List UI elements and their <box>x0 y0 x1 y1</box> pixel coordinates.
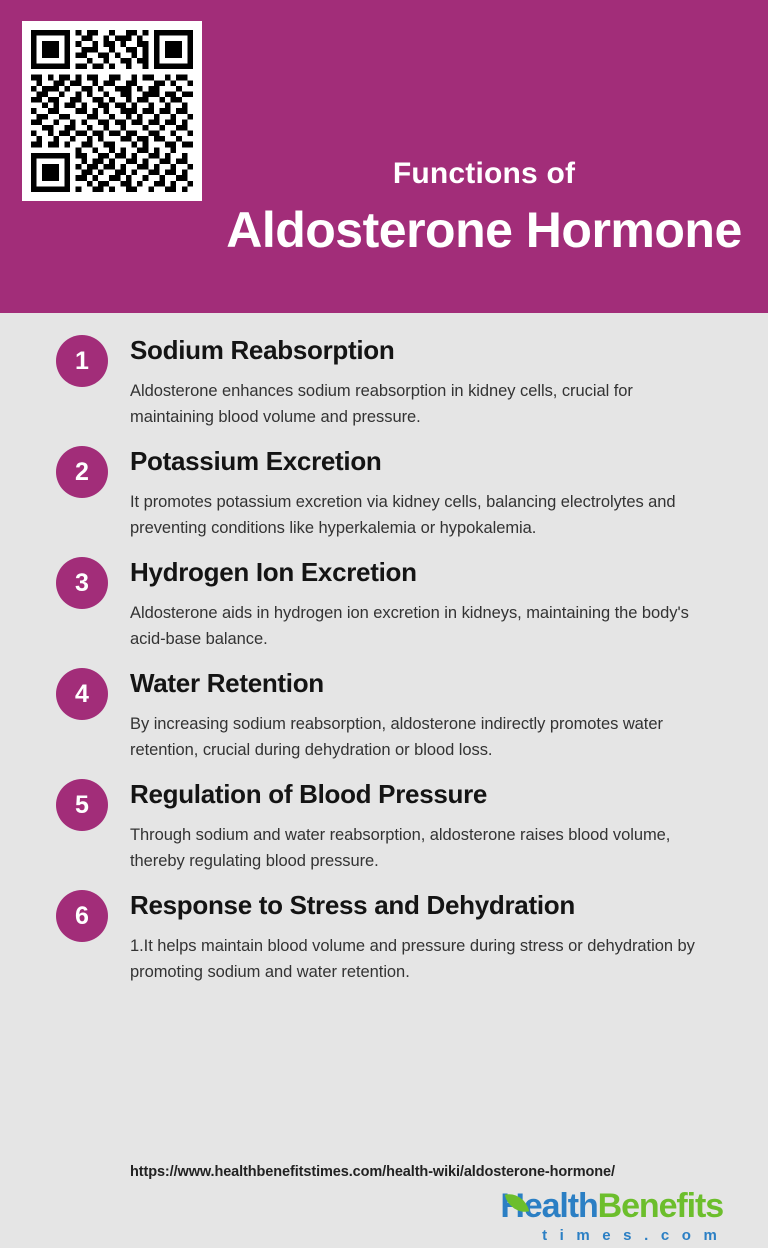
item-description: Through sodium and water reabsorption, a… <box>130 822 718 874</box>
logo-benefits-text: Benefits <box>598 1187 723 1225</box>
infographic-poster: Functions of Aldosterone Hormone 1 Sodiu… <box>0 0 768 1248</box>
logo-wordmark: HealthBenefits <box>500 1189 723 1223</box>
item-description: 1.It helps maintain blood volume and pre… <box>130 933 718 985</box>
qr-code-icon[interactable] <box>22 21 202 201</box>
site-logo[interactable]: HealthBenefits t i m e s . c o m <box>500 1189 723 1243</box>
list-item: 6 Response to Stress and Dehydration 1.I… <box>30 888 738 985</box>
item-number-badge: 5 <box>56 779 108 831</box>
source-url-link[interactable]: https://www.healthbenefitstimes.com/heal… <box>130 1162 615 1182</box>
header-kicker: Functions of <box>200 155 768 193</box>
poster-header: Functions of Aldosterone Hormone <box>0 0 768 313</box>
list-item: 4 Water Retention By increasing sodium r… <box>30 666 738 763</box>
item-title: Potassium Excretion <box>130 444 738 478</box>
item-number-badge: 6 <box>56 890 108 942</box>
list-item: 2 Potassium Excretion It promotes potass… <box>30 444 738 541</box>
item-title: Hydrogen Ion Excretion <box>130 555 738 589</box>
list-item: 5 Regulation of Blood Pressure Through s… <box>30 777 738 874</box>
functions-list: 1 Sodium Reabsorption Aldosterone enhanc… <box>0 313 768 985</box>
poster-footer: https://www.healthbenefitstimes.com/heal… <box>0 1156 768 1248</box>
item-number-badge: 3 <box>56 557 108 609</box>
logo-tagline: t i m e s . c o m <box>500 1228 723 1243</box>
item-title: Water Retention <box>130 666 738 700</box>
item-description: Aldosterone aids in hydrogen ion excreti… <box>130 600 718 652</box>
item-description: It promotes potassium excretion via kidn… <box>130 489 718 541</box>
item-number-badge: 4 <box>56 668 108 720</box>
item-number-badge: 2 <box>56 446 108 498</box>
list-item: 1 Sodium Reabsorption Aldosterone enhanc… <box>30 333 738 430</box>
header-title-block: Functions of Aldosterone Hormone <box>200 155 768 261</box>
item-description: By increasing sodium reabsorption, aldos… <box>130 711 718 763</box>
qr-code-graphic <box>31 30 193 192</box>
page-title: Aldosterone Hormone <box>200 199 768 261</box>
list-item: 3 Hydrogen Ion Excretion Aldosterone aid… <box>30 555 738 652</box>
item-description: Aldosterone enhances sodium reabsorption… <box>130 378 718 430</box>
item-title: Response to Stress and Dehydration <box>130 888 738 922</box>
item-number-badge: 1 <box>56 335 108 387</box>
item-title: Sodium Reabsorption <box>130 333 738 367</box>
item-title: Regulation of Blood Pressure <box>130 777 738 811</box>
